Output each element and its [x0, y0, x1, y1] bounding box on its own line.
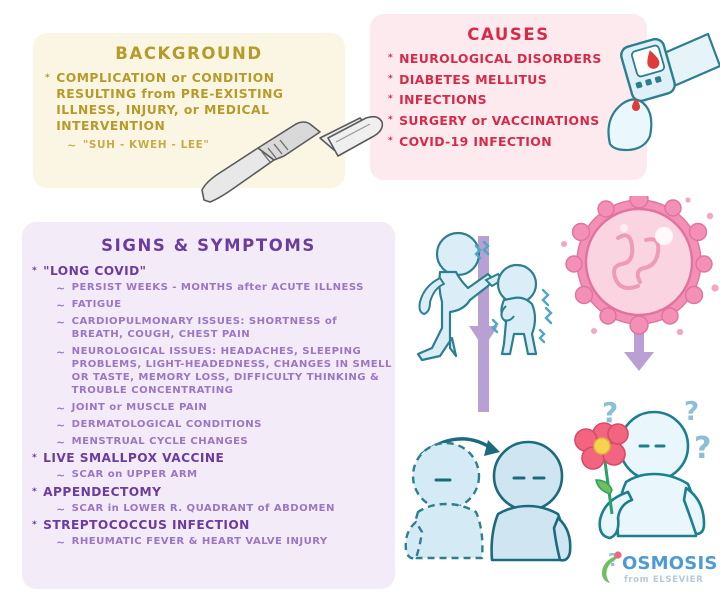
list-item: * "LONG COVID" — [32, 264, 392, 278]
sign-sub-label: FATIGUE — [72, 299, 122, 312]
sign-label: APPENDECTOMY — [43, 485, 161, 499]
tilde-bullet-icon: ~ — [56, 299, 66, 312]
sign-sub-label: SCAR in LOWER R. QUADRANT of ABDOMEN — [72, 503, 335, 516]
sign-sub-label: MENSTRUAL CYCLE CHANGES — [72, 436, 248, 449]
tilde-bullet-icon: ~ — [56, 469, 66, 482]
sub-list-item: ~ SCAR in LOWER R. QUADRANT of ABDOMEN — [56, 503, 392, 516]
list-item: * INFECTIONS — [388, 92, 628, 108]
list-item: * STREPTOCOCCUS INFECTION — [32, 518, 392, 532]
sub-list-item: ~ NEUROLOGICAL ISSUES: HEADACHES, SLEEPI… — [56, 346, 392, 398]
infographic-canvas: BACKGROUND * COMPLICATION or CONDITION R… — [0, 0, 720, 615]
tilde-bullet-icon: ~ — [56, 346, 66, 359]
cause-label: NEUROLOGICAL DISORDERS — [399, 51, 602, 67]
sign-sub-label: NEUROLOGICAL ISSUES: HEADACHES, SLEEPING… — [72, 346, 392, 398]
sign-sub-label: JOINT or MUSCLE PAIN — [72, 402, 208, 415]
sign-label: LIVE SMALLPOX VACCINE — [43, 451, 224, 465]
sub-list-item: ~ RHEUMATIC FEVER & HEART VALVE INJURY — [56, 536, 392, 549]
tilde-bullet-icon: ~ — [56, 536, 66, 549]
star-bullet-icon: * — [388, 134, 393, 146]
sub-list-item: ~ CARDIOPULMONARY ISSUES: SHORTNESS of B… — [56, 316, 392, 342]
sign-label: STREPTOCOCCUS INFECTION — [43, 518, 250, 532]
list-item: * APPENDECTOMY — [32, 485, 392, 499]
cause-label: COVID-19 INFECTION — [399, 134, 552, 150]
sub-list-item: ~ MENSTRUAL CYCLE CHANGES — [56, 436, 392, 449]
background-heading: BACKGROUND — [33, 44, 345, 63]
svg-text:?: ? — [694, 431, 711, 466]
list-item: * SURGERY or VACCINATIONS — [388, 113, 628, 129]
sign-sub-label: CARDIOPULMONARY ISSUES: SHORTNESS of BRE… — [72, 316, 392, 342]
tilde-bullet-icon: ~ — [56, 282, 66, 295]
tilde-bullet-icon: ~ — [56, 419, 66, 432]
star-bullet-icon: * — [388, 72, 393, 84]
scalpel-illustration — [196, 112, 386, 208]
star-bullet-icon: * — [388, 92, 393, 104]
sub-list-item: ~ DERMATOLOGICAL CONDITIONS — [56, 419, 392, 432]
sign-sub-label: RHEUMATIC FEVER & HEART VALVE INJURY — [72, 536, 328, 549]
causes-list: * NEUROLOGICAL DISORDERS * DIABETES MELL… — [388, 51, 628, 150]
signs-symptoms-list: * "LONG COVID" ~ PERSIST WEEKS - MONTHS … — [32, 264, 392, 549]
sign-sub-label: DERMATOLOGICAL CONDITIONS — [72, 419, 262, 432]
sign-sub-label: PERSIST WEEKS - MONTHS after ACUTE ILLNE… — [72, 282, 364, 295]
list-item: * NEUROLOGICAL DISORDERS — [388, 51, 628, 67]
tilde-bullet-icon: ~ — [56, 402, 66, 415]
tilde-bullet-icon: ~ — [56, 436, 66, 449]
smell-loss-illustration: ? ? ? ? — [556, 396, 720, 572]
list-item: * LIVE SMALLPOX VACCINE — [32, 451, 392, 465]
sub-list-item: ~ SCAR on UPPER ARM — [56, 469, 392, 482]
star-bullet-icon: * — [388, 51, 393, 63]
figures-exposure-illustration — [398, 222, 598, 412]
cause-label: INFECTIONS — [399, 92, 487, 108]
tilde-bullet-icon: ~ — [56, 316, 66, 329]
list-item: * COVID-19 INFECTION — [388, 134, 628, 150]
star-bullet-icon: * — [32, 518, 37, 530]
sign-label: "LONG COVID" — [43, 264, 146, 278]
tilde-bullet-icon: ~ — [67, 139, 77, 152]
star-bullet-icon: * — [32, 485, 37, 497]
signs-symptoms-heading: SIGNS & SYMPTOMS — [22, 236, 395, 255]
star-bullet-icon: * — [32, 451, 37, 463]
svg-text:?: ? — [684, 397, 699, 427]
signs-symptoms-panel: SIGNS & SYMPTOMS * "LONG COVID" ~ PERSIS… — [22, 222, 395, 589]
glucometer-illustration — [596, 26, 720, 152]
tilde-bullet-icon: ~ — [56, 503, 66, 516]
sub-list-item: ~ FATIGUE — [56, 299, 392, 312]
sub-list-item: ~ JOINT or MUSCLE PAIN — [56, 402, 392, 415]
background-pronunciation: "SUH - KWEH - LEE" — [83, 139, 210, 152]
list-item: * DIABETES MELLITUS — [388, 72, 628, 88]
cause-label: SURGERY or VACCINATIONS — [399, 113, 599, 129]
osmosis-logo: OSMOSIS from ELSEVIER — [596, 549, 714, 601]
osmosis-wordmark: OSMOSIS — [622, 553, 718, 574]
star-bullet-icon: * — [388, 113, 393, 125]
osmosis-subtitle: from ELSEVIER — [624, 575, 703, 585]
star-bullet-icon: * — [32, 264, 37, 276]
sign-sub-label: SCAR on UPPER ARM — [72, 469, 198, 482]
cause-label: DIABETES MELLITUS — [399, 72, 547, 88]
sub-list-item: ~ PERSIST WEEKS - MONTHS after ACUTE ILL… — [56, 282, 392, 295]
star-bullet-icon: * — [45, 71, 50, 83]
